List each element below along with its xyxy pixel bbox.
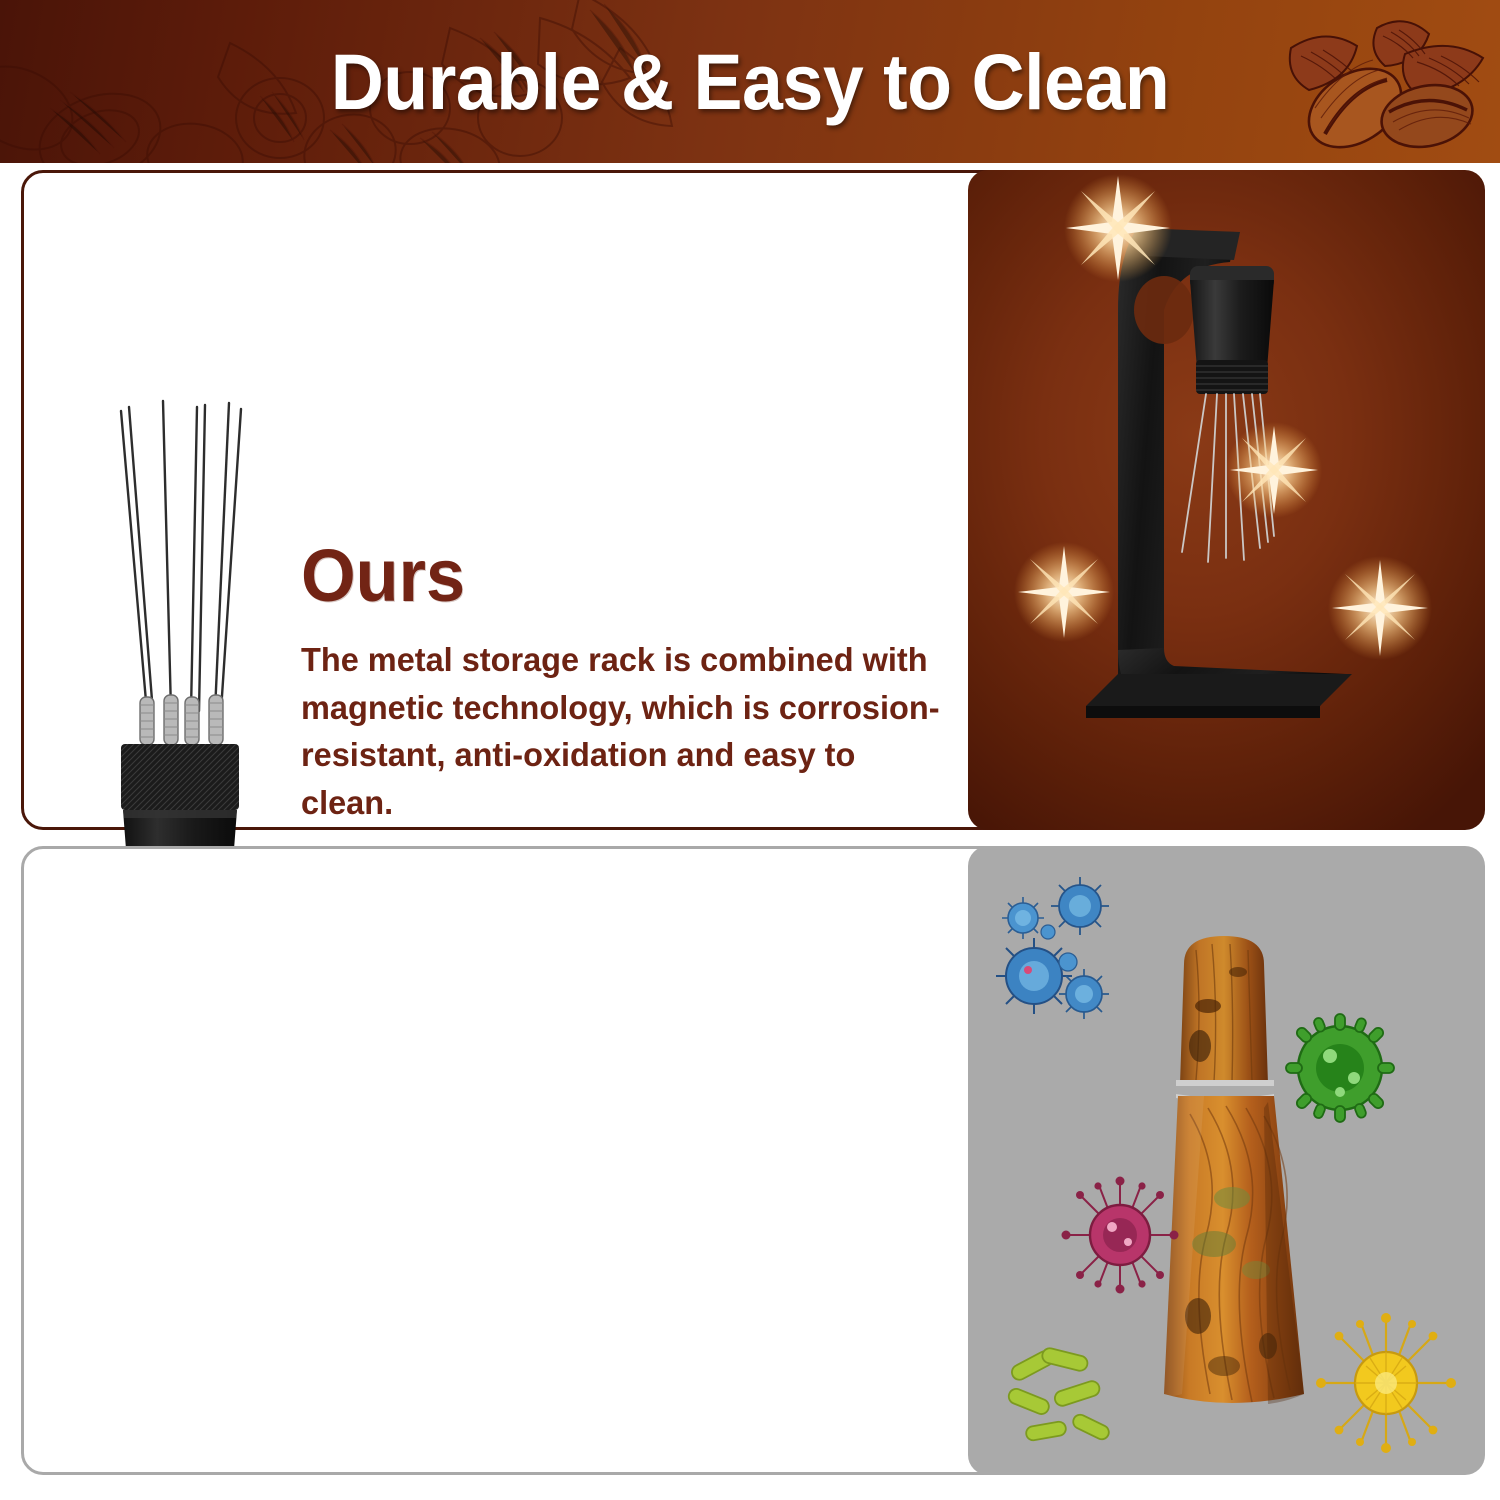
ours-heading: Ours	[301, 541, 928, 611]
ours-text-block: Ours The metal storage rack is combined …	[301, 541, 961, 828]
wdt-tool-on-stand-illustration	[968, 170, 1485, 830]
panel-others: Others Wooden handles and brackets are s…	[21, 846, 1479, 1475]
infographic-page: Durable & Easy to Clean	[0, 0, 1500, 1500]
ours-body: The metal storage rack is combined with …	[301, 637, 941, 827]
green-virus-icon	[1286, 1014, 1394, 1122]
page-title: Durable & Easy to Clean	[53, 0, 1448, 163]
pink-virus-icon	[1062, 1177, 1179, 1294]
sparkle-star-icon	[1064, 174, 1172, 282]
sparkle-star-icon	[1226, 422, 1322, 518]
wooden-handle-with-germs-illustration	[968, 846, 1485, 1475]
green-rod-bacteria-icon	[1007, 1347, 1112, 1442]
others-product-photo	[968, 846, 1485, 1475]
blue-virus-cluster-icon	[996, 877, 1109, 1019]
ours-product-photo	[968, 170, 1485, 830]
sparkle-star-icon	[1328, 556, 1432, 660]
sparkle-star-icon	[1014, 542, 1114, 642]
header-banner: Durable & Easy to Clean	[0, 0, 1500, 163]
panel-ours: Ours The metal storage rack is combined …	[21, 170, 1479, 830]
yellow-virus-icon	[1316, 1313, 1456, 1453]
